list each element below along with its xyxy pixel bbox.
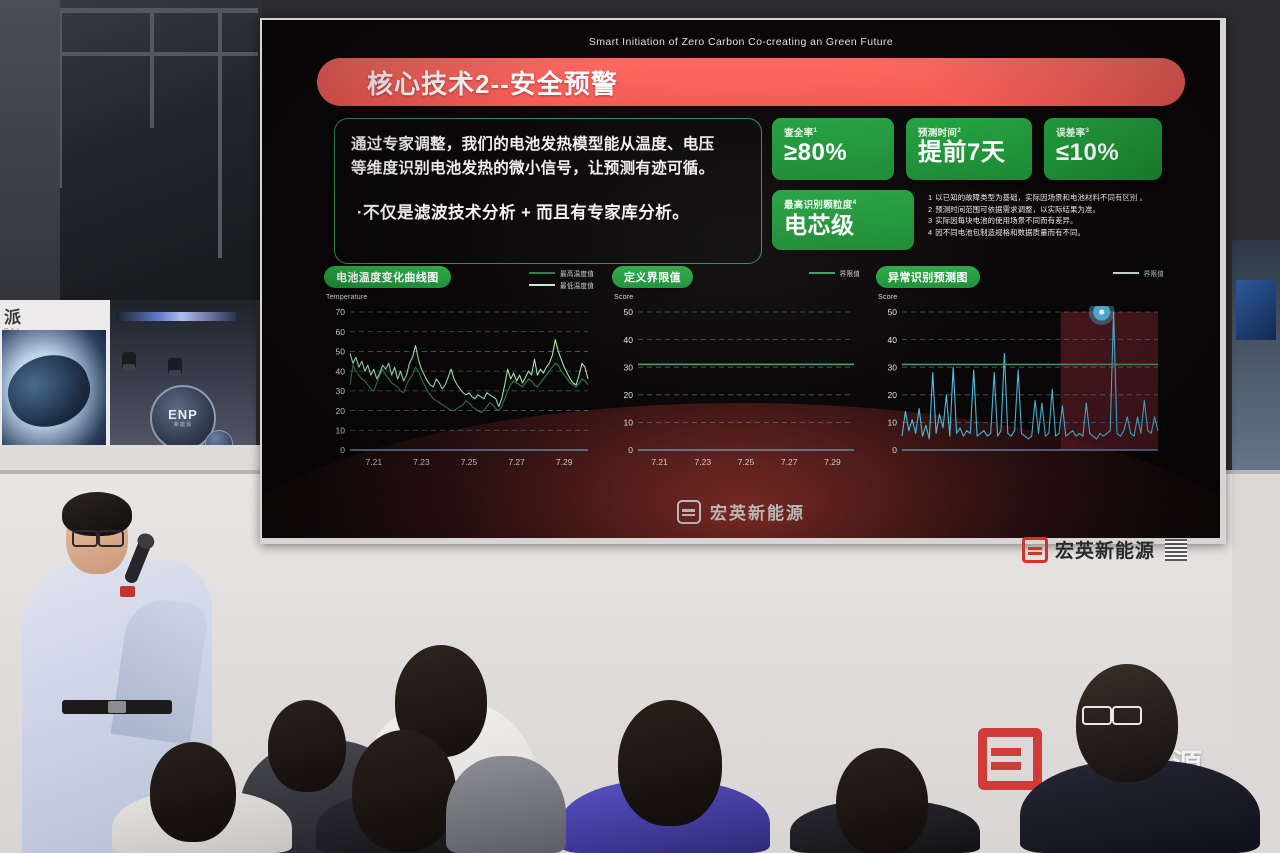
chart-title: 异常识别预测图	[888, 269, 968, 285]
svg-text:7.25: 7.25	[738, 457, 755, 467]
glasses-icon	[72, 530, 98, 547]
metric-card-recall: 查全率1 ≥80%	[772, 118, 894, 180]
metric-label: 误差率3	[1056, 125, 1152, 139]
svg-text:30: 30	[336, 386, 346, 396]
metric-card-leadtime: 预测时间2 提前7天	[906, 118, 1032, 180]
footnote-item: 3实际因每块电池的使用场景不同而有差异。	[928, 215, 1178, 227]
right-booth-display	[1236, 280, 1276, 340]
svg-text:10: 10	[624, 418, 634, 428]
svg-text:20: 20	[336, 406, 346, 416]
svg-text:0: 0	[340, 445, 345, 455]
legend-swatch	[529, 284, 555, 286]
enp-logo-sub: 新能源	[174, 421, 192, 428]
chart-title-pill: 电池温度变化曲线图	[324, 266, 451, 288]
description-box: 通过专家调整，我们的电池发热模型能从温度、电压 等维度识别电池发热的微小信号，让…	[334, 118, 762, 264]
metric-label: 预测时间2	[918, 125, 1022, 139]
svg-text:7.21: 7.21	[651, 457, 668, 467]
metric-value: 电芯级	[784, 211, 904, 239]
chart-row: 电池温度变化曲线图 最高温度值 最低温度值 Temperature 010203…	[324, 266, 1164, 474]
metric-label: 最高识别颗粒度4	[784, 197, 904, 211]
footnote-item: 1以已知的故障类型为基础，实际因场景和电池材料不同有区别 。	[928, 192, 1178, 204]
svg-text:7.29: 7.29	[824, 457, 841, 467]
slide-canvas: Smart Initiation of Zero Carbon Co-creat…	[262, 20, 1220, 538]
company-logo-icon	[1022, 537, 1048, 563]
right-booth-panel	[1232, 240, 1280, 490]
truss-post	[218, 8, 222, 258]
description-bullet: ·不仅是滤波技术分析 + 而且有专家库分析。	[351, 199, 745, 223]
chart-title-pill: 异常识别预测图	[876, 266, 980, 288]
y-axis-label: Score	[614, 294, 633, 301]
presenter-badge	[120, 586, 135, 597]
presenter-belt	[62, 700, 172, 714]
legend-label: 最高温度值	[560, 268, 594, 278]
left-booth-display	[2, 330, 106, 460]
chart-title-pill: 定义界限值	[612, 266, 693, 288]
booth-light-strip	[116, 312, 236, 321]
legend-item: 最高温度值	[529, 268, 594, 278]
slide-footer-logo: 宏英新能源	[262, 499, 1220, 524]
svg-text:40: 40	[624, 335, 634, 345]
description-line-2: 等维度识别电池发热的微小信号，让预测有迹可循。	[351, 157, 745, 181]
svg-text:0: 0	[628, 445, 633, 455]
metric-value: ≤10%	[1056, 139, 1152, 167]
legend-item: 界限值	[1113, 268, 1164, 278]
glasses-icon	[1082, 706, 1112, 725]
description-line-1: 通过专家调整，我们的电池发热模型能从温度、电压	[351, 133, 745, 157]
svg-text:50: 50	[888, 307, 898, 317]
wall-brand-logo: 宏英新能源	[1022, 536, 1187, 563]
glasses-icon	[1112, 706, 1142, 725]
legend-swatch	[529, 272, 555, 274]
metric-value: ≥80%	[784, 139, 884, 167]
legend-item: 界限值	[809, 268, 860, 278]
footnote-item: 4因不同电池包制造规格和数据质量而有不同。	[928, 227, 1178, 239]
legend-swatch	[1113, 272, 1139, 274]
chart-plot-area: 01020304050	[876, 306, 1164, 472]
legend-item: 最低温度值	[529, 280, 594, 290]
slide-subtitle: Smart Initiation of Zero Carbon Co-creat…	[262, 36, 1220, 48]
svg-text:10: 10	[336, 425, 346, 435]
presentation-screen: Smart Initiation of Zero Carbon Co-creat…	[260, 18, 1226, 544]
page-title: 核心技术2--安全预警	[367, 64, 618, 101]
svg-text:20: 20	[888, 390, 898, 400]
legend-label: 界限值	[1144, 268, 1164, 278]
metric-label: 查全率1	[784, 125, 884, 139]
chart-title: 电池温度变化曲线图	[336, 269, 439, 285]
company-name: 宏英新能源	[710, 499, 805, 524]
truss-beam	[30, 8, 258, 13]
legend-swatch	[809, 272, 835, 274]
company-name: 宏英新能源	[1055, 536, 1155, 563]
y-axis-label: Temperature	[326, 294, 368, 301]
svg-text:0: 0	[892, 445, 897, 455]
svg-text:50: 50	[336, 347, 346, 357]
enp-logo-text: ENP	[168, 408, 198, 421]
company-logo-icon	[677, 500, 701, 524]
chart-threshold-definition: 定义界限值 界限值 Score 010203040507.217.237.257…	[612, 266, 860, 474]
svg-text:60: 60	[336, 327, 346, 337]
footnote-item: 2预测时间范围可依据需求调整，以实际结果为准。	[928, 204, 1178, 216]
footnote-list: 1以已知的故障类型为基础，实际因场景和电池材料不同有区别 。 2预测时间范围可依…	[928, 192, 1178, 238]
svg-text:40: 40	[888, 335, 898, 345]
chart-legend: 界限值	[809, 268, 860, 280]
metric-card-error: 误差率3 ≤10%	[1044, 118, 1162, 180]
spotlight-icon	[122, 352, 136, 369]
svg-text:40: 40	[336, 366, 346, 376]
truss-post	[150, 8, 154, 128]
y-axis-label: Score	[878, 294, 897, 301]
svg-text:7.27: 7.27	[508, 457, 525, 467]
chart-battery-temperature: 电池温度变化曲线图 最高温度值 最低温度值 Temperature 010203…	[324, 266, 594, 474]
metric-card-granularity: 最高识别颗粒度4 电芯级	[772, 190, 914, 250]
svg-text:30: 30	[888, 362, 898, 372]
svg-text:7.21: 7.21	[366, 457, 383, 467]
screenshot-root: ENP 新能源 派PAI Smart Initiation of Zero Ca…	[0, 0, 1280, 853]
svg-text:30: 30	[624, 362, 634, 372]
chart-plot-area: 0102030405060707.217.237.257.277.29	[324, 306, 594, 472]
slide-title-banner: 核心技术2--安全预警	[317, 58, 1185, 106]
svg-text:7.23: 7.23	[413, 457, 430, 467]
qr-code-icon	[1165, 539, 1187, 561]
legend-label: 最低温度值	[560, 280, 594, 290]
metric-value: 提前7天	[918, 139, 1022, 167]
svg-text:50: 50	[624, 307, 634, 317]
svg-text:7.25: 7.25	[461, 457, 478, 467]
chart-title: 定义界限值	[624, 269, 681, 285]
svg-text:20: 20	[624, 390, 634, 400]
glasses-icon	[98, 530, 124, 547]
svg-text:7.27: 7.27	[781, 457, 798, 467]
truss-beam	[30, 52, 258, 56]
chart-legend: 界限值	[1113, 268, 1164, 280]
svg-text:7.29: 7.29	[556, 457, 573, 467]
wall-logo-large-icon	[978, 728, 1042, 790]
svg-text:70: 70	[336, 307, 346, 317]
chart-anomaly-prediction: 异常识别预测图 界限值 Score 01020304050	[876, 266, 1164, 474]
spotlight-icon	[168, 358, 182, 375]
legend-label: 界限值	[840, 268, 860, 278]
chart-plot-area: 010203040507.217.237.257.277.29	[612, 306, 860, 472]
svg-text:7.23: 7.23	[695, 457, 712, 467]
svg-text:10: 10	[888, 418, 898, 428]
chart-legend: 最高温度值 最低温度值	[529, 268, 594, 292]
